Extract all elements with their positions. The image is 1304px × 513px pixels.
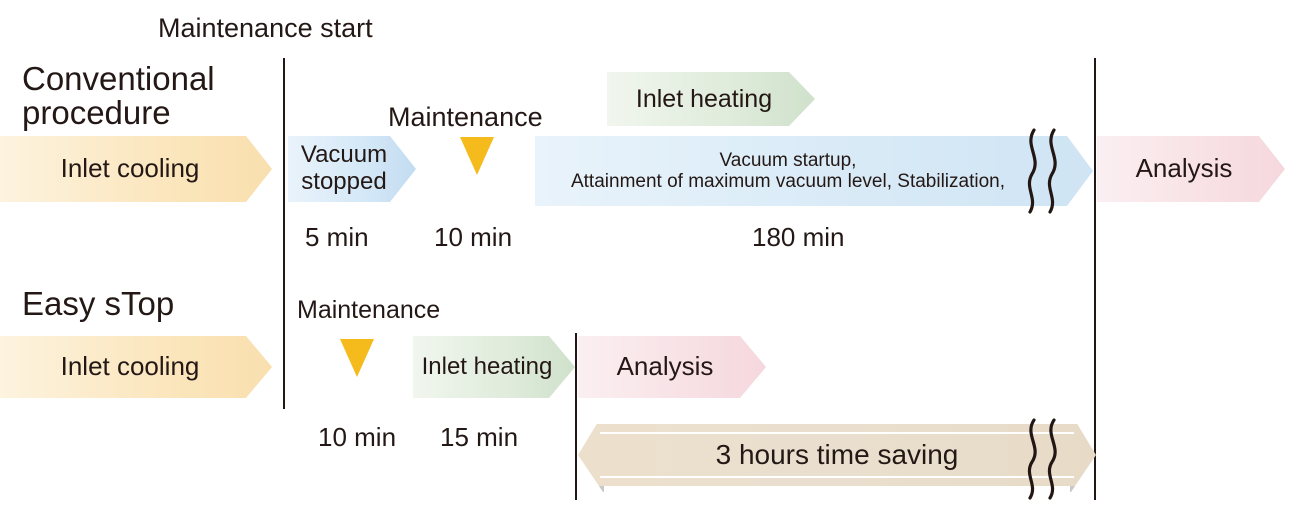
duration-15min-easystop: 15 min — [440, 424, 518, 451]
maintenance-marker-label-bottom: Maintenance — [297, 297, 440, 323]
step-label: Analysis — [617, 352, 728, 381]
step-label: Inlet heating — [636, 85, 786, 113]
step-label: Vacuum startup, Attainment of maximum va… — [571, 150, 1057, 193]
step-inlet-cooling-easystop: Inlet cooling — [0, 336, 272, 398]
step-label: Inlet cooling — [61, 154, 212, 183]
maintenance-marker-triangle-icon — [460, 137, 494, 175]
maintenance-marker-triangle-icon — [340, 339, 374, 377]
step-label: Vacuum stopped — [301, 142, 403, 196]
step-inlet-cooling-conventional: Inlet cooling — [0, 136, 272, 202]
row-label-easy-stop: Easy sTop — [22, 287, 174, 322]
step-label: Inlet cooling — [61, 352, 212, 381]
duration-180min-conventional: 180 min — [752, 224, 845, 251]
duration-10min-conventional: 10 min — [434, 224, 512, 251]
step-vacuum-startup: Vacuum startup, Attainment of maximum va… — [535, 136, 1093, 206]
step-label: Inlet heating — [422, 354, 567, 381]
time-saving-label: 3 hours time saving — [706, 439, 969, 470]
step-analysis-conventional: Analysis — [1097, 136, 1285, 202]
duration-5min-conventional: 5 min — [305, 224, 369, 251]
timeline-diagram: Maintenance start Conventional procedure… — [0, 0, 1304, 513]
step-inlet-heating-conventional: Inlet heating — [607, 72, 815, 126]
step-analysis-easystop: Analysis — [578, 336, 766, 398]
step-inlet-heating-easystop: Inlet heating — [413, 336, 575, 398]
step-label-line2: stopped — [301, 168, 386, 195]
step-label-line1: Vacuum startup, — [720, 150, 857, 171]
analysis-start-rule — [1094, 58, 1096, 500]
maintenance-start-label: Maintenance start — [158, 14, 373, 42]
maintenance-start-rule — [283, 58, 285, 409]
duration-10min-easystop: 10 min — [318, 424, 396, 451]
time-saving-arrow: 3 hours time saving — [578, 424, 1096, 486]
step-label-line2: Attainment of maximum vacuum level, Stab… — [571, 171, 1005, 192]
step-label: Analysis — [1136, 154, 1247, 183]
maintenance-marker-label-top: Maintenance — [388, 103, 543, 131]
easy-stop-analysis-rule — [575, 333, 577, 500]
row-label-conventional: Conventional procedure — [22, 62, 272, 131]
step-vacuum-stopped: Vacuum stopped — [288, 136, 416, 202]
step-label-line1: Vacuum — [301, 141, 387, 168]
